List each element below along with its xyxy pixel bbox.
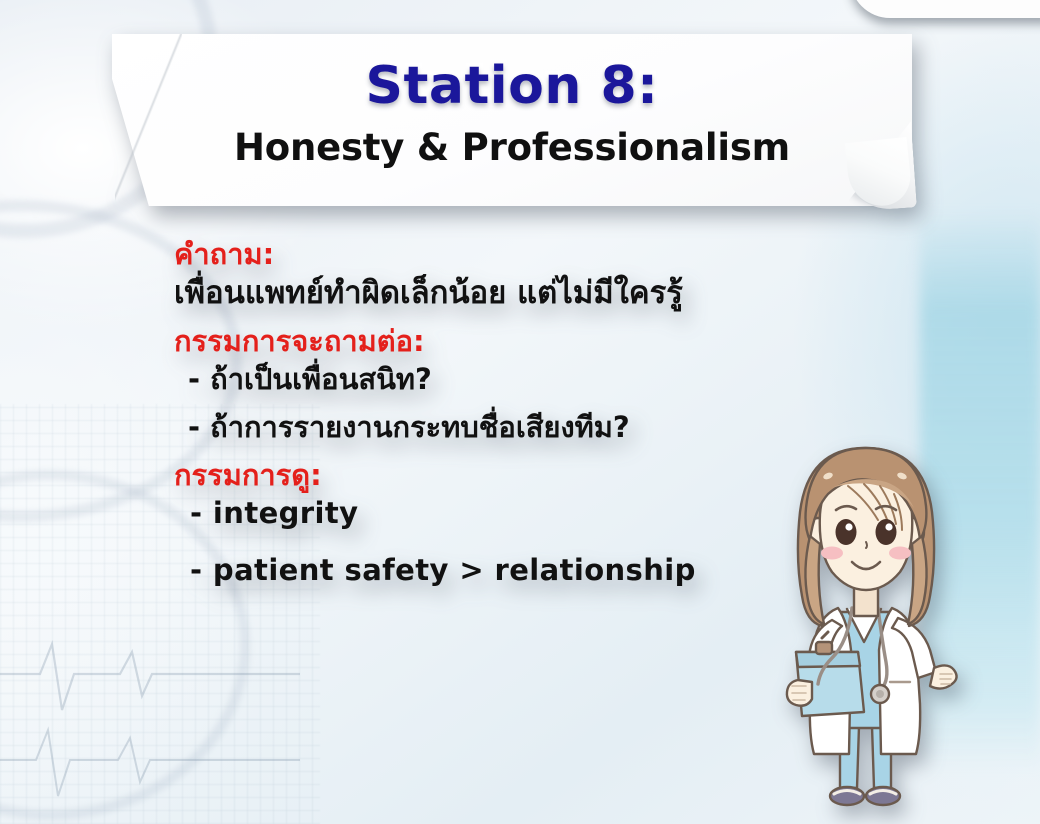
page-title: Station 8: xyxy=(112,56,912,116)
list-item: - ถ้าเป็นเพื่อนสนิท? xyxy=(188,365,814,394)
section-criteria: กรรมการดู: - integrity - patient safety … xyxy=(174,461,814,585)
question-text: เพื่อนแพทย์ทำผิดเล็กน้อย แต่ไม่มีใครรู้ xyxy=(174,278,814,309)
followup-heading: กรรมการจะถามต่อ: xyxy=(174,327,814,356)
section-followup: กรรมการจะถามต่อ: - ถ้าเป็นเพื่อนสนิท? - … xyxy=(174,327,814,442)
list-item: - ถ้าการรายงานกระทบชื่อเสียงทีม? xyxy=(188,413,814,442)
section-question: คำถาม: เพื่อนแพทย์ทำผิดเล็กน้อย แต่ไม่มี… xyxy=(174,240,814,309)
doctor-illustration xyxy=(752,436,982,824)
question-heading: คำถาม: xyxy=(174,240,814,269)
screenshot-root: ');" data-interactable="false"> ');" dat… xyxy=(0,0,1040,824)
top-right-card xyxy=(850,0,1040,18)
page-subtitle: Honesty & Professionalism xyxy=(112,126,912,169)
list-item: - integrity xyxy=(190,499,814,528)
torn-paper-board: ');" data-interactable="false"> ');" dat… xyxy=(62,28,962,788)
list-item: - patient safety > relationship xyxy=(190,556,814,585)
title-sheet: Station 8: Honesty & Professionalism xyxy=(112,34,912,206)
criteria-heading: กรรมการดู: xyxy=(174,461,814,490)
content-body: คำถาม: เพื่อนแพทย์ทำผิดเล็กน้อย แต่ไม่มี… xyxy=(174,240,814,613)
